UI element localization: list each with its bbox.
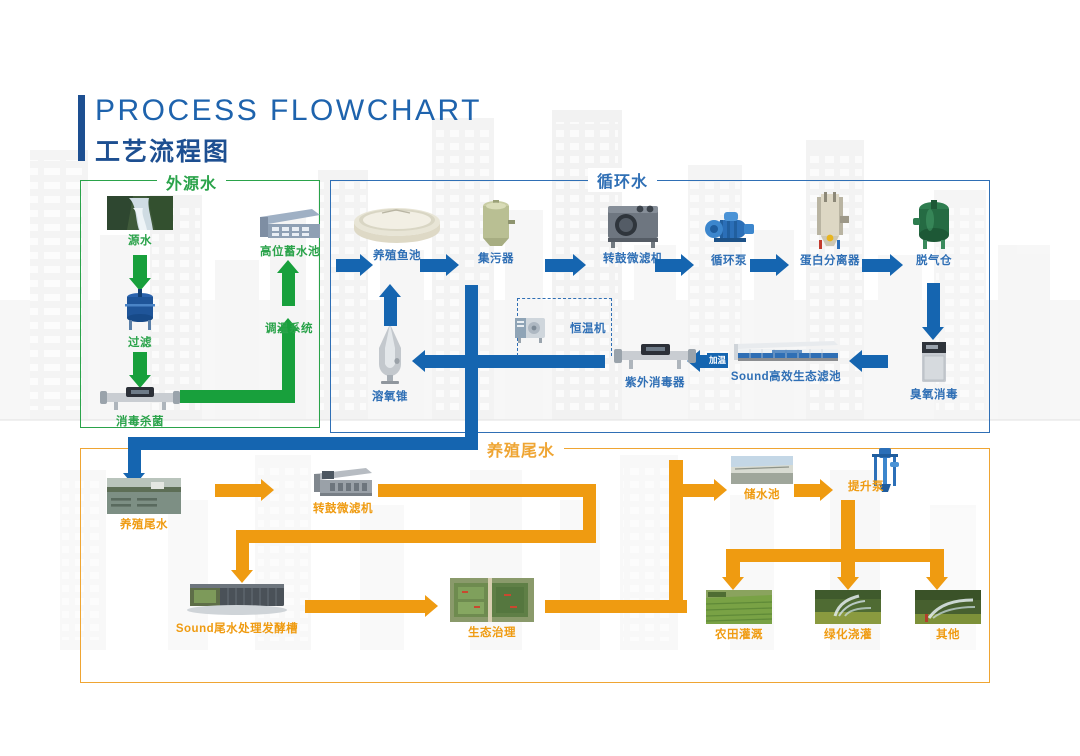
link-branch-green	[841, 549, 855, 579]
arrow-farmland-head	[722, 577, 744, 590]
sprinkler-photo-icon	[915, 590, 981, 624]
link-pump-to-skimmer	[750, 259, 778, 272]
link-tailwater-to-microfilter	[215, 484, 263, 497]
node-label: 紫外消毒器	[625, 374, 685, 390]
arrow-green-head	[837, 577, 859, 590]
node-label: 提升泵	[848, 478, 884, 494]
node-disinfection[interactable]: 消毒杀菌	[88, 385, 192, 435]
arrow-other-head	[926, 577, 948, 590]
link-riser-to-storage	[669, 484, 717, 497]
node-label: 转鼓微滤机	[313, 500, 373, 516]
node-temperature-system[interactable]: 调温系统	[238, 320, 340, 340]
round-tank-icon	[352, 205, 442, 245]
link-trunk-left-to-tailwater	[128, 437, 478, 450]
node-label: 养殖尾水	[120, 516, 168, 532]
fermenter-icon	[184, 582, 290, 616]
node-storage-pond[interactable]: 储水池	[722, 456, 802, 508]
link-ozone-to-ecofilter	[862, 355, 888, 368]
river-photo-icon	[107, 196, 173, 230]
link-riser-to-temp	[282, 330, 295, 403]
link-down-to-fermenter	[236, 530, 249, 572]
arrow-tag-heating: 加温	[707, 353, 728, 367]
cone-vessel-icon	[368, 318, 412, 384]
sprinkler-photo-icon	[815, 590, 881, 624]
chiller-unit-icon	[512, 314, 548, 344]
node-other-use[interactable]: 其他	[902, 590, 994, 646]
ozone-cabinet-icon	[919, 340, 949, 384]
filter-tank-icon	[116, 288, 164, 332]
node-label: 其他	[936, 626, 960, 642]
node-label: Sound高效生态滤池	[731, 368, 841, 384]
node-label: 储水池	[744, 486, 780, 502]
pond-photo-icon	[731, 456, 793, 484]
flowchart-canvas: PROCESS FLOWCHART 工艺流程图 外源水 循环水 养殖尾水 源水	[0, 0, 1080, 756]
arrow-fishpond-riser-head	[379, 284, 401, 297]
node-label: 集污器	[478, 250, 514, 266]
node-label: 溶氧锥	[372, 388, 408, 404]
node-label: 脱气仓	[916, 252, 952, 268]
node-label: 循环泵	[711, 252, 747, 268]
link-fishpond-to-collector	[420, 259, 448, 272]
link-temp-to-reservoir	[282, 272, 295, 306]
container-unit-icon	[732, 338, 840, 364]
node-sludge-collector[interactable]: 集污器	[450, 198, 542, 272]
skimmer-column-icon	[807, 192, 853, 250]
link-branch-farmland	[726, 549, 740, 579]
page-title-chinese: 工艺流程图	[95, 132, 230, 168]
aerial-photo-icon	[450, 578, 534, 622]
arrow-ozone-head	[922, 327, 944, 340]
node-label: 过滤	[128, 334, 152, 350]
arrow-source-to-filter-shaft	[133, 255, 147, 280]
link-cone-to-fishpond-riser	[384, 296, 397, 326]
building-icon	[256, 205, 324, 239]
node-eco-treatment[interactable]: 生态治理	[437, 578, 547, 640]
link-branch-other	[930, 549, 944, 579]
link-microfilter-to-pump	[655, 259, 683, 272]
arrow-tailwater-microfilter-head	[261, 479, 274, 501]
pond-photo-icon	[107, 478, 181, 514]
link-big-riser	[669, 460, 683, 613]
node-label: 臭氧消毒	[910, 386, 958, 402]
uv-sterilizer-icon	[98, 385, 182, 411]
node-thermostat[interactable]: 恒温机	[492, 312, 602, 354]
section-label-recirculating-water: 循环水	[588, 168, 657, 192]
node-elevated-reservoir[interactable]: 高位蓄水池	[238, 205, 342, 265]
link-manifold-bar	[726, 549, 944, 562]
link-uv-to-cone-horizontal	[425, 355, 605, 368]
node-ozone-disinfection[interactable]: 臭氧消毒	[888, 340, 980, 404]
link-eco-right	[545, 600, 687, 613]
field-photo-icon	[706, 590, 772, 624]
section-label-tailwater: 养殖尾水	[478, 437, 564, 461]
node-label: 恒温机	[570, 320, 606, 336]
node-label: Sound尾水处理发酵槽	[176, 620, 298, 636]
node-label: 生态治理	[468, 624, 516, 640]
node-label: 消毒杀菌	[116, 413, 164, 429]
uv-sterilizer-icon	[612, 342, 698, 370]
link-storage-to-liftpump	[794, 484, 822, 497]
node-source-water[interactable]: 源水	[90, 196, 190, 256]
vertical-tank-icon	[475, 198, 517, 248]
node-eco-filter-pool[interactable]: Sound高效生态滤池	[726, 338, 846, 402]
link-collector-to-microfilter	[545, 259, 575, 272]
node-label: 源水	[128, 232, 152, 248]
node-farmland-irrigation[interactable]: 农田灌溉	[693, 590, 785, 646]
section-label-external-water: 外源水	[157, 170, 226, 194]
node-green-watering[interactable]: 绿化浇灌	[802, 590, 894, 646]
node-label: 绿化浇灌	[824, 626, 872, 642]
drum-machine-icon	[310, 464, 376, 498]
node-uv-sterilizer[interactable]: 紫外消毒器	[600, 342, 710, 404]
pump-motor-icon	[700, 208, 758, 250]
link-degas-down	[927, 283, 940, 329]
link-disinfect-right	[180, 390, 295, 403]
arrow-filter-to-disinfect-shaft	[133, 352, 147, 377]
green-tank-icon	[910, 196, 958, 250]
title-accent-bar	[78, 95, 85, 161]
page-title-english: PROCESS FLOWCHART	[95, 94, 482, 128]
link-fermenter-to-eco	[305, 600, 427, 613]
node-lift-pump[interactable]: 提升泵	[820, 448, 906, 504]
link-bottom-left-run	[236, 530, 596, 543]
node-filtration[interactable]: 过滤	[90, 288, 190, 348]
node-label: 农田灌溉	[715, 626, 763, 642]
node-label: 转鼓微滤机	[603, 250, 663, 266]
node-label: 养殖鱼池	[373, 247, 421, 263]
node-degassing-tank[interactable]: 脱气仓	[888, 196, 980, 272]
link-collector-down-trunk	[465, 285, 478, 450]
node-fermentation-tank[interactable]: Sound尾水处理发酵槽	[172, 582, 302, 644]
link-microfilter2-right	[378, 484, 596, 497]
node-label: 高位蓄水池	[260, 243, 320, 259]
drum-machine-icon	[602, 200, 664, 248]
node-oxygen-cone[interactable]: 溶氧锥	[340, 318, 440, 406]
node-aquaculture-tailwater[interactable]: 养殖尾水	[90, 478, 198, 534]
node-label: 蛋白分离器	[800, 252, 860, 268]
arrow-ecofilter-head	[849, 350, 862, 372]
link-tailwater-down	[128, 437, 141, 475]
node-label: 调温系统	[265, 320, 313, 336]
